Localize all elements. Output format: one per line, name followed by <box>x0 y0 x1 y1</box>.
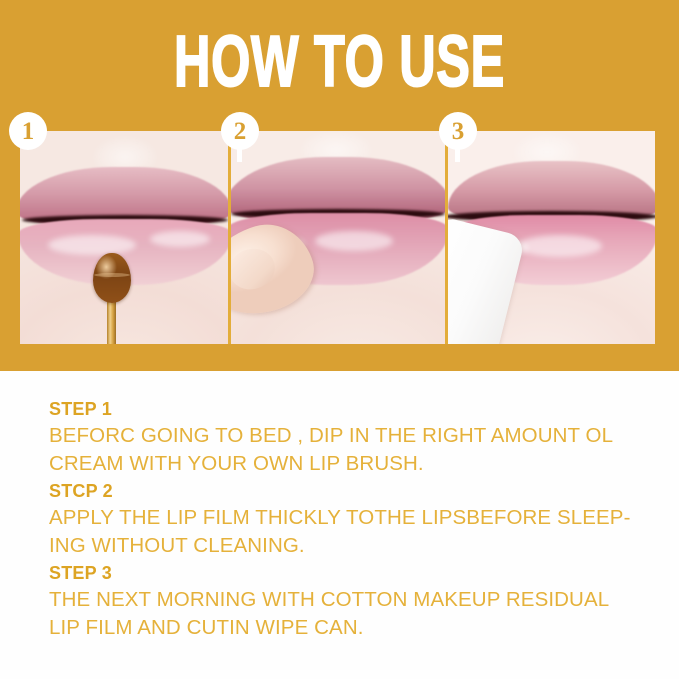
lip-brush-icon <box>93 253 131 303</box>
step-photo-2 <box>228 131 448 344</box>
instruction-step-1: STEP 1 BEFORC GOING TO BED , DIP IN THE … <box>49 396 649 478</box>
step-3-heading: STEP 3 <box>49 560 649 586</box>
step-badge-3: 3 <box>439 112 477 150</box>
applicator-handle-icon <box>107 299 116 344</box>
how-to-use-infographic: HOW TO USE <box>0 0 679 679</box>
steps-photo-strip <box>20 131 658 344</box>
applicator-ring-icon <box>94 273 130 277</box>
step-1-body: BEFORC GOING TO BED , DIP IN THE RIGHT A… <box>49 422 649 478</box>
lip-gloss-highlight-1 <box>48 235 136 255</box>
step-badge-1: 1 <box>9 112 47 150</box>
step-2-heading: STCP 2 <box>49 478 649 504</box>
step-2-body: APPLY THE LIP FILM THICKLY TOTHE LIPSBEF… <box>49 504 649 560</box>
instruction-step-2: STCP 2 APPLY THE LIP FILM THICKLY TOTHE … <box>49 478 649 560</box>
lip-gloss-highlight-1b <box>150 231 210 247</box>
lip-gloss-highlight-3 <box>518 235 602 257</box>
step-3-body: THE NEXT MORNING WITH COTTON MAKEUP RESI… <box>49 586 649 642</box>
instructions-list: STEP 1 BEFORC GOING TO BED , DIP IN THE … <box>49 396 649 642</box>
step-1-heading: STEP 1 <box>49 396 649 422</box>
step-photo-1 <box>20 131 228 344</box>
instruction-step-3: STEP 3 THE NEXT MORNING WITH COTTON MAKE… <box>49 560 649 642</box>
page-title: HOW TO USE <box>102 26 577 98</box>
lip-gloss-highlight-2 <box>315 231 393 251</box>
step-photo-3 <box>448 131 655 344</box>
step-badge-2: 2 <box>221 112 259 150</box>
